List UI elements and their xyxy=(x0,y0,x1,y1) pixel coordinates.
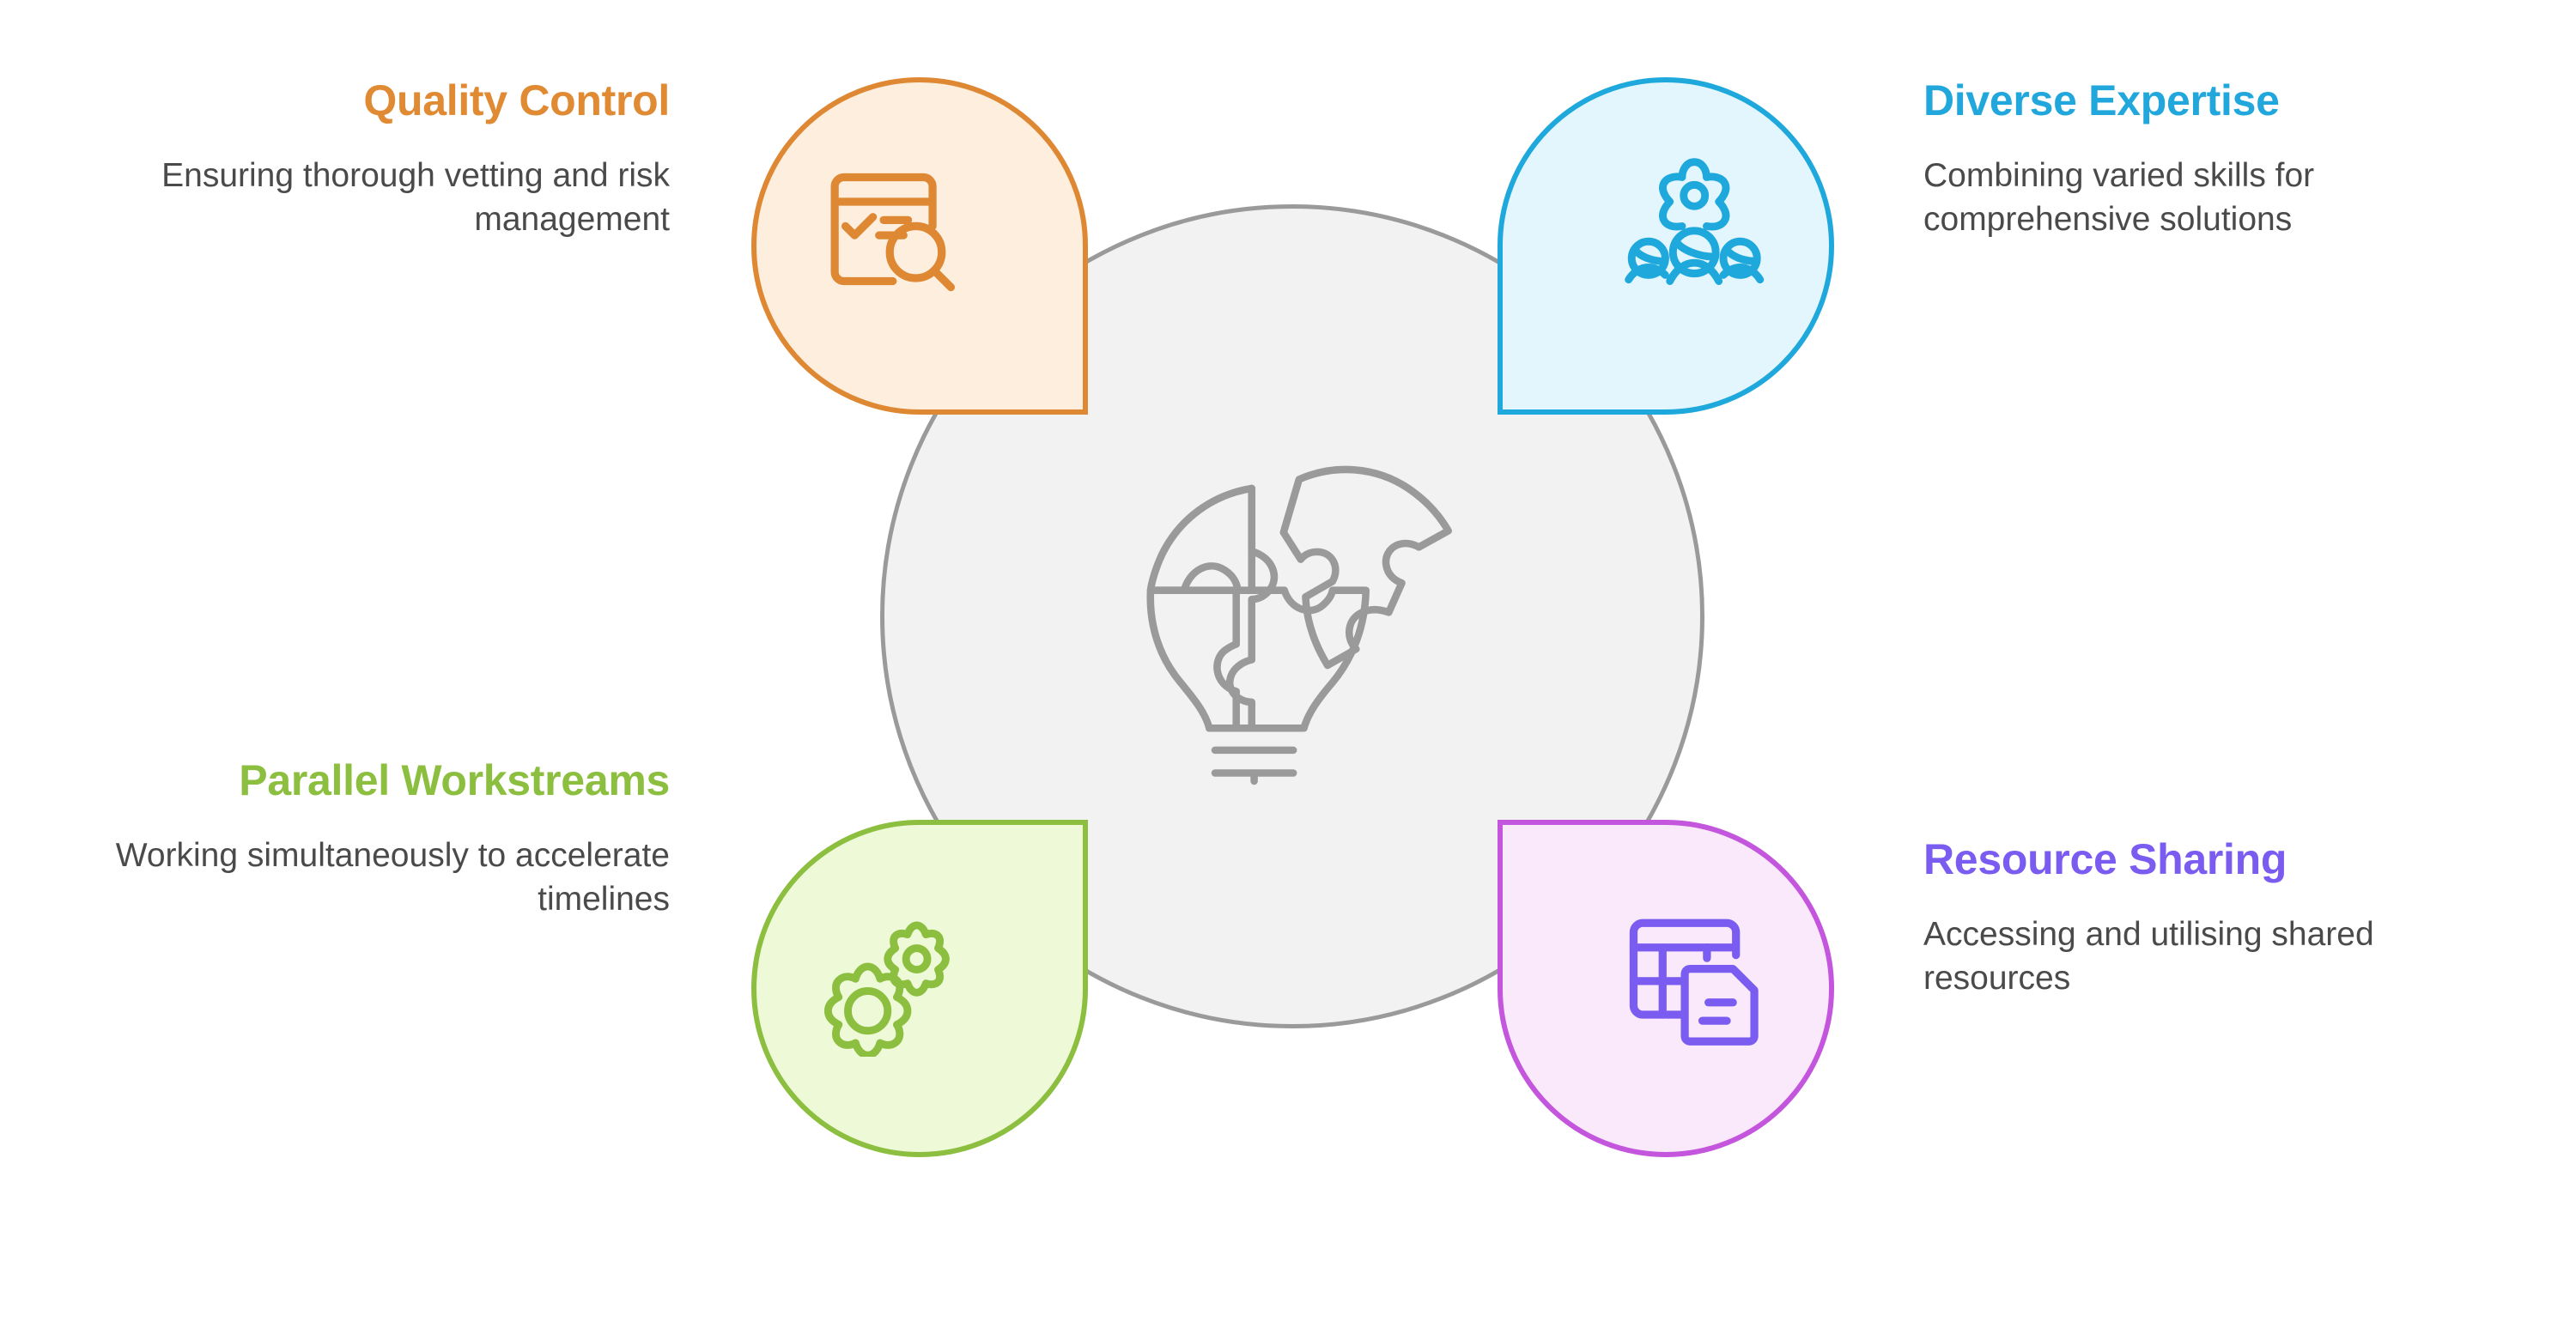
pod-parallel-workstreams[interactable] xyxy=(751,820,1088,1157)
pod-description-diverse-expertise: Combining varied skills for comprehensiv… xyxy=(1923,155,2490,241)
pod-title-quality-control: Quality Control xyxy=(155,76,670,125)
pod-description-quality-control: Ensuring thorough vetting and risk manag… xyxy=(155,155,670,241)
lightbulb-puzzle-icon xyxy=(1133,451,1460,785)
pod-resource-sharing[interactable] xyxy=(1498,820,1834,1157)
text-block-resource-sharing: Resource Sharing Accessing and utilising… xyxy=(1923,834,2490,1000)
pod-title-diverse-expertise: Diverse Expertise xyxy=(1923,76,2490,125)
pod-quality-control[interactable] xyxy=(751,77,1088,415)
text-block-diverse-expertise: Diverse Expertise Combining varied skill… xyxy=(1923,76,2490,241)
pod-description-parallel-workstreams: Working simultaneously to accelerate tim… xyxy=(86,834,670,921)
pod-description-resource-sharing: Accessing and utilising shared resources xyxy=(1923,913,2490,1000)
document-check-search-icon xyxy=(815,153,968,306)
diagram-canvas: Quality Control Ensuring thorough vettin… xyxy=(0,0,2576,1340)
pod-title-resource-sharing: Resource Sharing xyxy=(1923,834,2490,884)
two-gears-icon xyxy=(810,904,963,1057)
table-document-icon xyxy=(1623,911,1776,1064)
text-block-parallel-workstreams: Parallel Workstreams Working simultaneou… xyxy=(86,755,670,921)
text-block-quality-control: Quality Control Ensuring thorough vettin… xyxy=(155,76,670,241)
pod-title-parallel-workstreams: Parallel Workstreams xyxy=(86,755,670,805)
pod-diverse-expertise[interactable] xyxy=(1498,77,1834,415)
gear-team-people-icon xyxy=(1619,153,1772,306)
